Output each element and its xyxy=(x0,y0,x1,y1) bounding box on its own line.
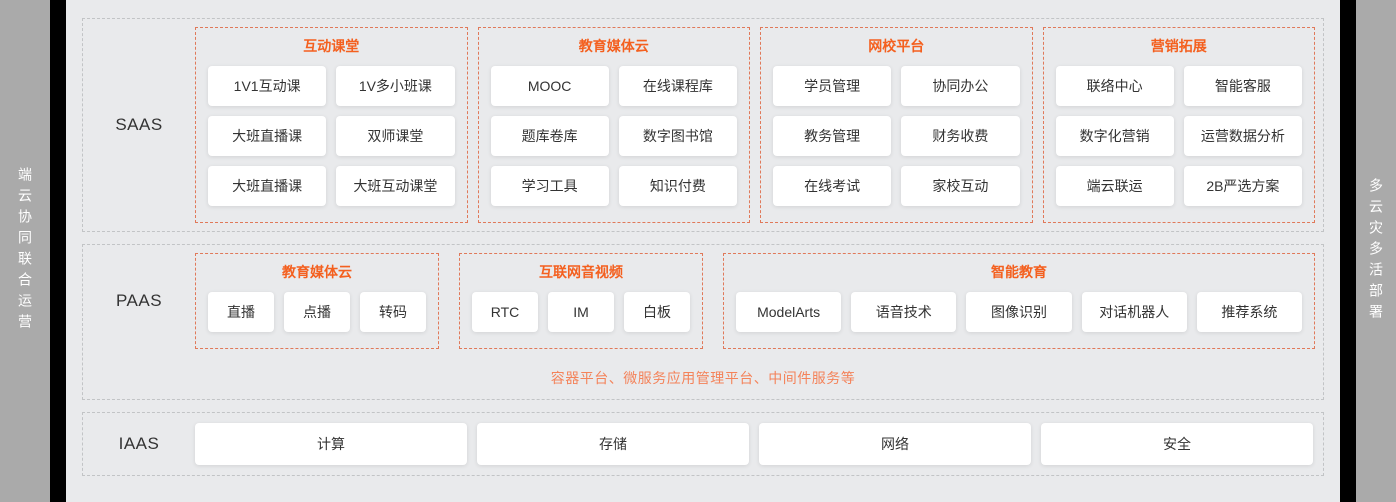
service-card[interactable]: 大班直播课 xyxy=(208,116,326,156)
service-card[interactable]: 对话机器人 xyxy=(1082,292,1187,332)
service-card[interactable]: 大班直播课 xyxy=(208,166,326,206)
service-card[interactable]: 语音技术 xyxy=(851,292,956,332)
left-rail-divider xyxy=(50,0,66,502)
service-card[interactable]: 2B严选方案 xyxy=(1184,166,1302,206)
left-rail: 端云协同联合运营 xyxy=(0,0,50,502)
group-title: 教育媒体云 xyxy=(282,262,352,282)
group-cards: RTC IM 白板 xyxy=(472,292,690,332)
layer-paas: PAAS 教育媒体云 直播 点播 转码 互联网音视频 RTC xyxy=(82,244,1324,400)
group-cards: MOOC 在线课程库 题库卷库 数字图书馆 学习工具 知识付费 xyxy=(491,66,738,206)
service-card[interactable]: 学习工具 xyxy=(491,166,609,206)
service-card[interactable]: 在线课程库 xyxy=(619,66,737,106)
service-card[interactable]: 教务管理 xyxy=(773,116,891,156)
layer-label-iaas: IAAS xyxy=(83,413,195,475)
service-card[interactable]: 财务收费 xyxy=(901,116,1019,156)
service-card[interactable]: 图像识别 xyxy=(966,292,1071,332)
group-paas-1: 互联网音视频 RTC IM 白板 xyxy=(459,253,703,349)
group-title: 互动课堂 xyxy=(303,36,359,56)
architecture-diagram: 端云协同联合运营 SAAS 互动课堂 1V1互动课 1V多小班课 大班直播课 双… xyxy=(0,0,1396,502)
group-title: 教育媒体云 xyxy=(579,36,649,56)
layer-body-iaas: 计算 存储 网络 安全 xyxy=(195,413,1323,475)
service-card[interactable]: 直播 xyxy=(208,292,274,332)
right-rail-divider xyxy=(1340,0,1356,502)
layer-label-saas: SAAS xyxy=(83,19,195,231)
service-card[interactable]: ModelArts xyxy=(736,292,841,332)
service-card[interactable]: 在线考试 xyxy=(773,166,891,206)
service-card[interactable]: 联络中心 xyxy=(1056,66,1174,106)
diagram-canvas: SAAS 互动课堂 1V1互动课 1V多小班课 大班直播课 双师课堂 大班直播课… xyxy=(66,0,1340,502)
group-title: 智能教育 xyxy=(991,262,1047,282)
service-card[interactable]: 1V1互动课 xyxy=(208,66,326,106)
layer-label-paas: PAAS xyxy=(83,245,195,357)
service-card[interactable]: 计算 xyxy=(195,423,467,465)
group-paas-0: 教育媒体云 直播 点播 转码 xyxy=(195,253,439,349)
service-card[interactable]: 协同办公 xyxy=(901,66,1019,106)
service-card[interactable]: 端云联运 xyxy=(1056,166,1174,206)
group-title: 互联网音视频 xyxy=(539,262,623,282)
service-card[interactable]: 学员管理 xyxy=(773,66,891,106)
service-card[interactable]: RTC xyxy=(472,292,538,332)
group-saas-1: 教育媒体云 MOOC 在线课程库 题库卷库 数字图书馆 学习工具 知识付费 xyxy=(478,27,751,223)
service-card[interactable]: 智能客服 xyxy=(1184,66,1302,106)
service-card[interactable]: 转码 xyxy=(360,292,426,332)
service-card[interactable]: 存储 xyxy=(477,423,749,465)
group-cards: 学员管理 协同办公 教务管理 财务收费 在线考试 家校互动 xyxy=(773,66,1020,206)
group-cards: 联络中心 智能客服 数字化营销 运营数据分析 端云联运 2B严选方案 xyxy=(1056,66,1303,206)
service-card[interactable]: 点播 xyxy=(284,292,350,332)
service-card[interactable]: 大班互动课堂 xyxy=(336,166,454,206)
right-rail: 多云灾多活部署 xyxy=(1356,0,1396,502)
service-card[interactable]: 数字化营销 xyxy=(1056,116,1174,156)
layer-body-paas: 教育媒体云 直播 点播 转码 互联网音视频 RTC IM 白板 xyxy=(195,245,1323,357)
service-card[interactable]: 知识付费 xyxy=(619,166,737,206)
right-rail-label: 多云灾多活部署 xyxy=(1369,178,1383,325)
service-card[interactable]: 题库卷库 xyxy=(491,116,609,156)
service-card[interactable]: IM xyxy=(548,292,614,332)
group-cards: 直播 点播 转码 xyxy=(208,292,426,332)
group-saas-2: 网校平台 学员管理 协同办公 教务管理 财务收费 在线考试 家校互动 xyxy=(760,27,1033,223)
group-cards: ModelArts 语音技术 图像识别 对话机器人 推荐系统 xyxy=(736,292,1302,332)
group-cards: 1V1互动课 1V多小班课 大班直播课 双师课堂 大班直播课 大班互动课堂 xyxy=(208,66,455,206)
group-saas-0: 互动课堂 1V1互动课 1V多小班课 大班直播课 双师课堂 大班直播课 大班互动… xyxy=(195,27,468,223)
layer-body-saas: 互动课堂 1V1互动课 1V多小班课 大班直播课 双师课堂 大班直播课 大班互动… xyxy=(195,19,1323,231)
service-card[interactable]: 安全 xyxy=(1041,423,1313,465)
paas-footnote: 容器平台、微服务应用管理平台、中间件服务等 xyxy=(83,357,1323,399)
layer-iaas: IAAS 计算 存储 网络 安全 xyxy=(82,412,1324,476)
layer-paas-main: PAAS 教育媒体云 直播 点播 转码 互联网音视频 RTC xyxy=(83,245,1323,357)
layer-saas: SAAS 互动课堂 1V1互动课 1V多小班课 大班直播课 双师课堂 大班直播课… xyxy=(82,18,1324,232)
left-rail-label: 端云协同联合运营 xyxy=(18,167,32,335)
service-card[interactable]: MOOC xyxy=(491,66,609,106)
service-card[interactable]: 家校互动 xyxy=(901,166,1019,206)
group-paas-2: 智能教育 ModelArts 语音技术 图像识别 对话机器人 推荐系统 xyxy=(723,253,1315,349)
service-card[interactable]: 数字图书馆 xyxy=(619,116,737,156)
group-title: 营销拓展 xyxy=(1151,36,1207,56)
service-card[interactable]: 网络 xyxy=(759,423,1031,465)
group-title: 网校平台 xyxy=(868,36,924,56)
service-card[interactable]: 运营数据分析 xyxy=(1184,116,1302,156)
service-card[interactable]: 白板 xyxy=(624,292,690,332)
group-saas-3: 营销拓展 联络中心 智能客服 数字化营销 运营数据分析 端云联运 2B严选方案 xyxy=(1043,27,1316,223)
service-card[interactable]: 双师课堂 xyxy=(336,116,454,156)
service-card[interactable]: 1V多小班课 xyxy=(336,66,454,106)
service-card[interactable]: 推荐系统 xyxy=(1197,292,1302,332)
